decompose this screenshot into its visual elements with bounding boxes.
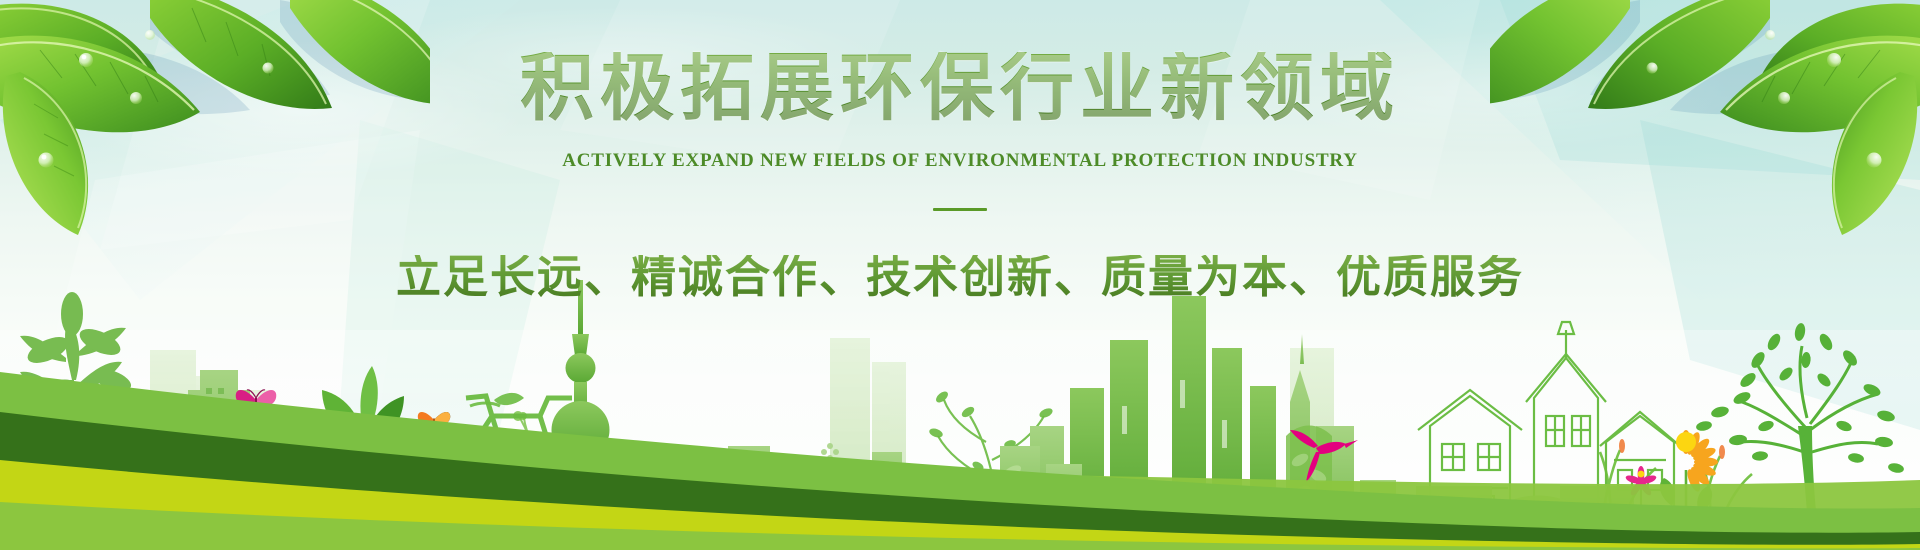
- ribbon-bands: [0, 320, 1920, 550]
- title-divider: [933, 208, 987, 211]
- banner-text-block: 积极拓展环保行业新领域 ACTIVELY EXPAND NEW FIELDS O…: [0, 52, 1920, 300]
- page-slogan: 立足长远、精诚合作、技术创新、质量为本、优质服务: [0, 255, 1920, 300]
- page-subtitle: ACTIVELY EXPAND NEW FIELDS OF ENVIRONMEN…: [0, 150, 1920, 172]
- eco-banner: 积极拓展环保行业新领域 ACTIVELY EXPAND NEW FIELDS O…: [0, 0, 1920, 550]
- page-title: 积极拓展环保行业新领域: [0, 52, 1920, 126]
